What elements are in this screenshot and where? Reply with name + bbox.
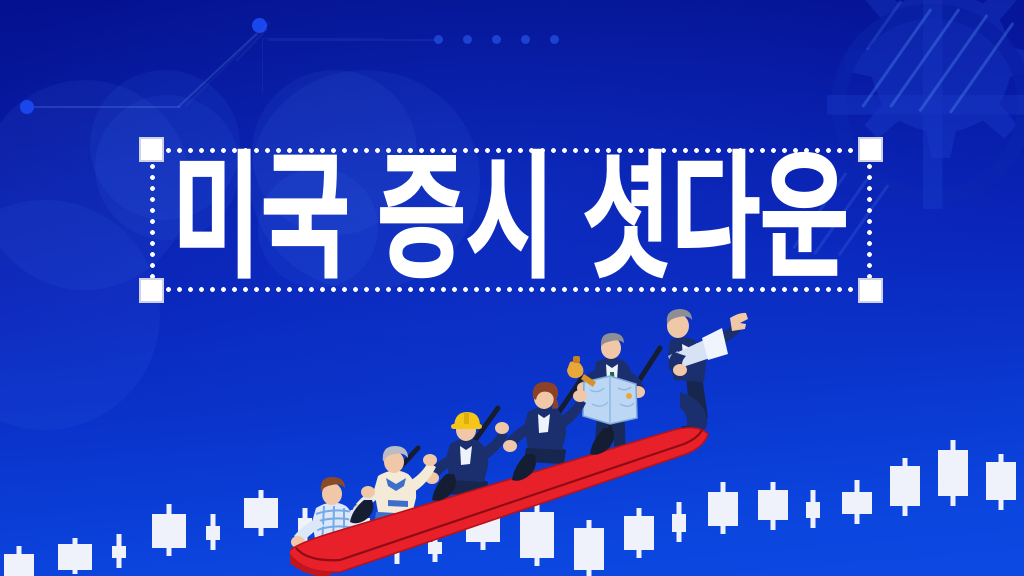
- candlestick: [890, 346, 920, 576]
- resize-handle-top-left[interactable]: [139, 137, 164, 162]
- resize-handle-top-right[interactable]: [858, 137, 883, 162]
- candlestick-body: [938, 450, 968, 496]
- candlestick-body: [758, 490, 788, 520]
- candlestick-body: [244, 498, 278, 528]
- candlestick: [4, 346, 34, 576]
- resize-handle-bottom-left[interactable]: [139, 278, 164, 303]
- candlestick: [842, 346, 872, 576]
- decor-dot-row-item: [492, 35, 501, 44]
- candlestick: [112, 346, 126, 576]
- candlestick-body: [986, 462, 1016, 500]
- candlestick-body: [842, 492, 872, 514]
- candlestick-body: [890, 466, 920, 506]
- candlestick: [806, 346, 820, 576]
- decor-corner-notch: [262, 38, 383, 93]
- title-selection-box[interactable]: 미국 증시 셧다운: [152, 150, 870, 290]
- candlestick: [986, 346, 1016, 576]
- candlestick: [58, 346, 92, 576]
- decor-dot-row-item: [434, 35, 443, 44]
- decor-node-dot-left: [20, 100, 34, 114]
- decor-dot-row-item: [463, 35, 472, 44]
- rowing-boat-illustration: [330, 300, 750, 576]
- candlestick: [152, 346, 186, 576]
- page-title[interactable]: 미국 증시 셧다운: [152, 172, 870, 267]
- candlestick: [244, 346, 278, 576]
- decor-node-line-horizontal: [25, 106, 180, 108]
- candlestick-body: [58, 544, 92, 570]
- figure-leader-with-megaphone: [667, 309, 748, 442]
- figure-rower-woman-suit: [503, 382, 587, 464]
- decor-dot-row-item: [550, 35, 559, 44]
- candlestick-body: [152, 514, 186, 548]
- decor-dot-row-item: [521, 35, 530, 44]
- candlestick-body: [206, 526, 220, 540]
- candlestick: [938, 346, 968, 576]
- hard-hat-icon: [451, 412, 482, 429]
- page-title-text: 미국 증시 셧다운: [173, 152, 850, 288]
- resize-handle-bottom-right[interactable]: [858, 278, 883, 303]
- candlestick: [206, 346, 220, 576]
- candlestick-body: [112, 546, 126, 558]
- slide-canvas: 미국 증시 셧다운: [0, 0, 1024, 576]
- candlestick-body: [806, 502, 820, 518]
- candlestick: [758, 346, 788, 576]
- candlestick-body: [4, 554, 34, 576]
